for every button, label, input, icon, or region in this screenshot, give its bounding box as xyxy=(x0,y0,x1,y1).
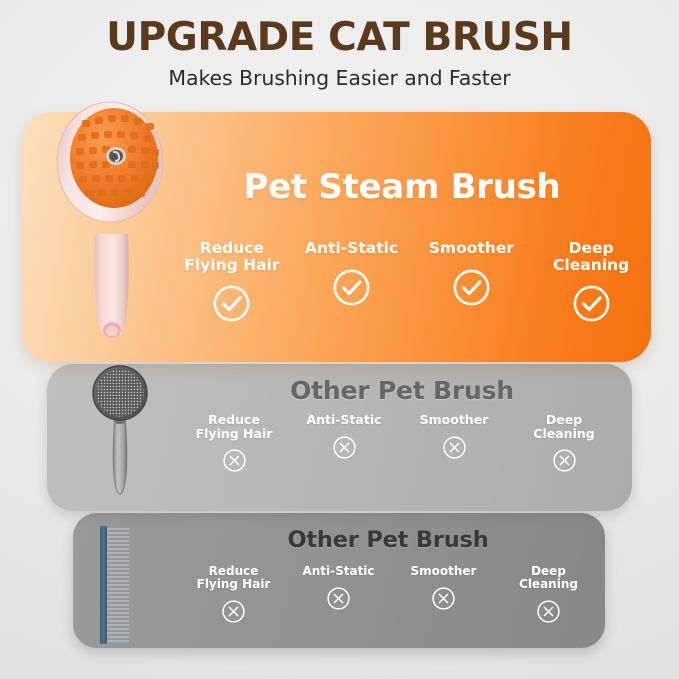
feature-smoother: Smoother xyxy=(391,565,496,629)
feature-reduce-flying-hair: Reduce Flying Hair xyxy=(179,413,289,478)
panel-other-pet-brush-comb: Other Pet Brush Reduce Flying Hair Anti-… xyxy=(73,513,605,648)
feature-label: Deep Cleaning xyxy=(519,565,578,591)
feature-deep-cleaning: Deep Cleaning xyxy=(509,413,619,478)
panel-heading-other-pet-brush-slicker: Other Pet Brush xyxy=(187,376,617,405)
check-icon xyxy=(572,284,611,328)
feature-reduce-flying-hair: Reduce Flying Hair xyxy=(181,565,286,629)
feature-label: Smoother xyxy=(411,565,477,578)
check-icon xyxy=(452,268,491,312)
feature-label: Reduce Flying Hair xyxy=(196,413,273,440)
feature-row-pet-steam-brush: Reduce Flying Hair Anti-Static xyxy=(172,240,651,328)
feature-label: Reduce Flying Hair xyxy=(197,565,271,591)
feature-label: Reduce Flying Hair xyxy=(184,240,279,273)
slicker-brush-icon xyxy=(82,364,158,500)
cross-icon xyxy=(552,448,577,478)
feature-label: Anti-Static xyxy=(305,240,398,257)
cross-icon xyxy=(221,599,246,629)
infographic-root: UPGRADE CAT BRUSH Makes Brushing Easier … xyxy=(0,0,679,679)
feature-anti-static: Anti-Static xyxy=(286,565,391,629)
feature-row-other-pet-brush-comb: Reduce Flying Hair Anti-Static xyxy=(181,565,601,629)
cross-icon xyxy=(332,435,357,465)
feature-label: Anti-Static xyxy=(302,565,374,578)
feature-deep-cleaning: Deep Cleaning xyxy=(496,565,601,629)
feature-label: Deep Cleaning xyxy=(533,413,594,440)
feature-label: Deep Cleaning xyxy=(553,240,629,273)
feature-smoother: Smoother xyxy=(412,240,532,328)
feature-reduce-flying-hair: Reduce Flying Hair xyxy=(172,240,292,328)
feature-anti-static: Anti-Static xyxy=(289,413,399,478)
flea-comb-icon xyxy=(96,524,144,646)
feature-smoother: Smoother xyxy=(399,413,509,478)
page-title: UPGRADE CAT BRUSH xyxy=(0,0,679,59)
feature-anti-static: Anti-Static xyxy=(292,240,412,328)
cross-icon xyxy=(431,586,456,616)
feature-row-other-pet-brush-slicker: Reduce Flying Hair Anti-Static xyxy=(179,413,619,478)
cross-icon xyxy=(442,435,467,465)
feature-label: Anti-Static xyxy=(306,413,381,427)
feature-label: Smoother xyxy=(429,240,514,257)
header: UPGRADE CAT BRUSH Makes Brushing Easier … xyxy=(0,0,679,90)
cross-icon xyxy=(222,448,247,478)
check-icon xyxy=(212,284,251,328)
cross-icon xyxy=(326,586,351,616)
cross-icon xyxy=(536,599,561,629)
panel-heading-other-pet-brush-comb: Other Pet Brush xyxy=(188,527,588,553)
steam-brush-icon xyxy=(40,84,180,346)
feature-label: Smoother xyxy=(420,413,489,427)
check-icon xyxy=(332,268,371,312)
feature-deep-cleaning: Deep Cleaning xyxy=(531,240,651,328)
panel-heading-pet-steam-brush: Pet Steam Brush xyxy=(182,167,622,207)
